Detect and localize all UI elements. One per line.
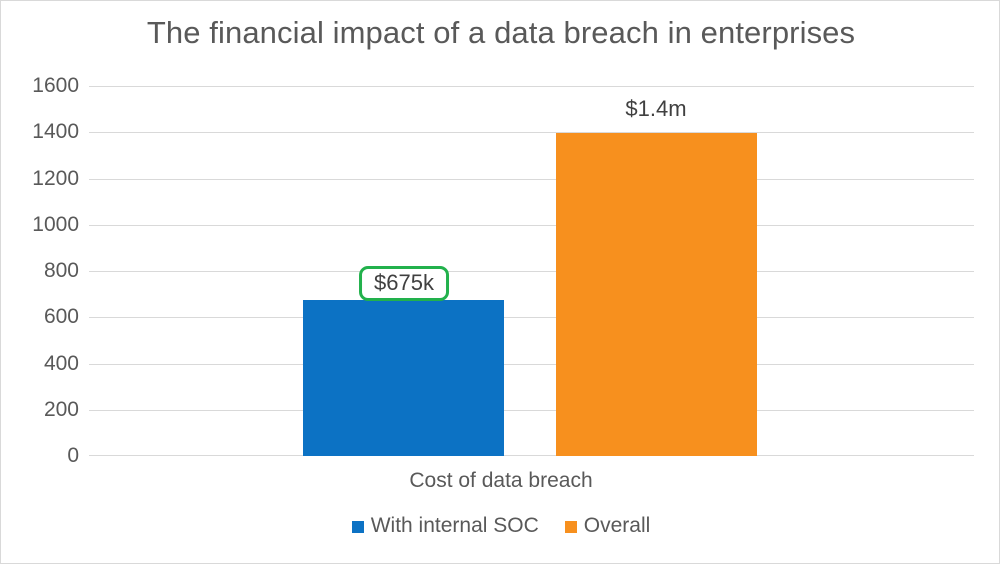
data-label-with-internal-soc: $675k (359, 266, 449, 301)
y-tick-label: 400 (9, 352, 79, 376)
x-axis-category-label: Cost of data breach (1, 469, 1000, 493)
y-tick-label: 1200 (9, 167, 79, 191)
chart-canvas: The financial impact of a data breach in… (0, 0, 1000, 564)
y-tick-label: 0 (9, 444, 79, 468)
gridline (89, 86, 974, 87)
gridline (89, 132, 974, 133)
legend-label: Overall (584, 514, 651, 538)
legend-swatch-orange-icon (565, 521, 577, 533)
gridline (89, 225, 974, 226)
gridline (89, 271, 974, 272)
y-tick-label: 1400 (9, 120, 79, 144)
chart-title: The financial impact of a data breach in… (1, 15, 1000, 51)
gridline (89, 317, 974, 318)
bar-with-internal-soc[interactable] (303, 300, 504, 456)
y-tick-label: 1000 (9, 213, 79, 237)
data-label-overall: $1.4m (621, 94, 690, 124)
y-tick-label: 200 (9, 398, 79, 422)
plot-area (89, 86, 974, 456)
legend-label: With internal SOC (371, 514, 539, 538)
legend-item-with-internal-soc[interactable]: With internal SOC (352, 514, 539, 538)
legend: With internal SOC Overall (1, 514, 1000, 538)
y-tick-label: 1600 (9, 74, 79, 98)
axis-baseline (89, 455, 974, 456)
legend-item-overall[interactable]: Overall (565, 514, 651, 538)
legend-swatch-blue-icon (352, 521, 364, 533)
y-axis: 1600 1400 1200 1000 800 600 400 200 0 (1, 86, 79, 456)
y-tick-label: 800 (9, 259, 79, 283)
y-tick-label: 600 (9, 305, 79, 329)
gridline (89, 364, 974, 365)
gridline (89, 410, 974, 411)
bar-overall[interactable] (556, 133, 757, 456)
gridline (89, 179, 974, 180)
